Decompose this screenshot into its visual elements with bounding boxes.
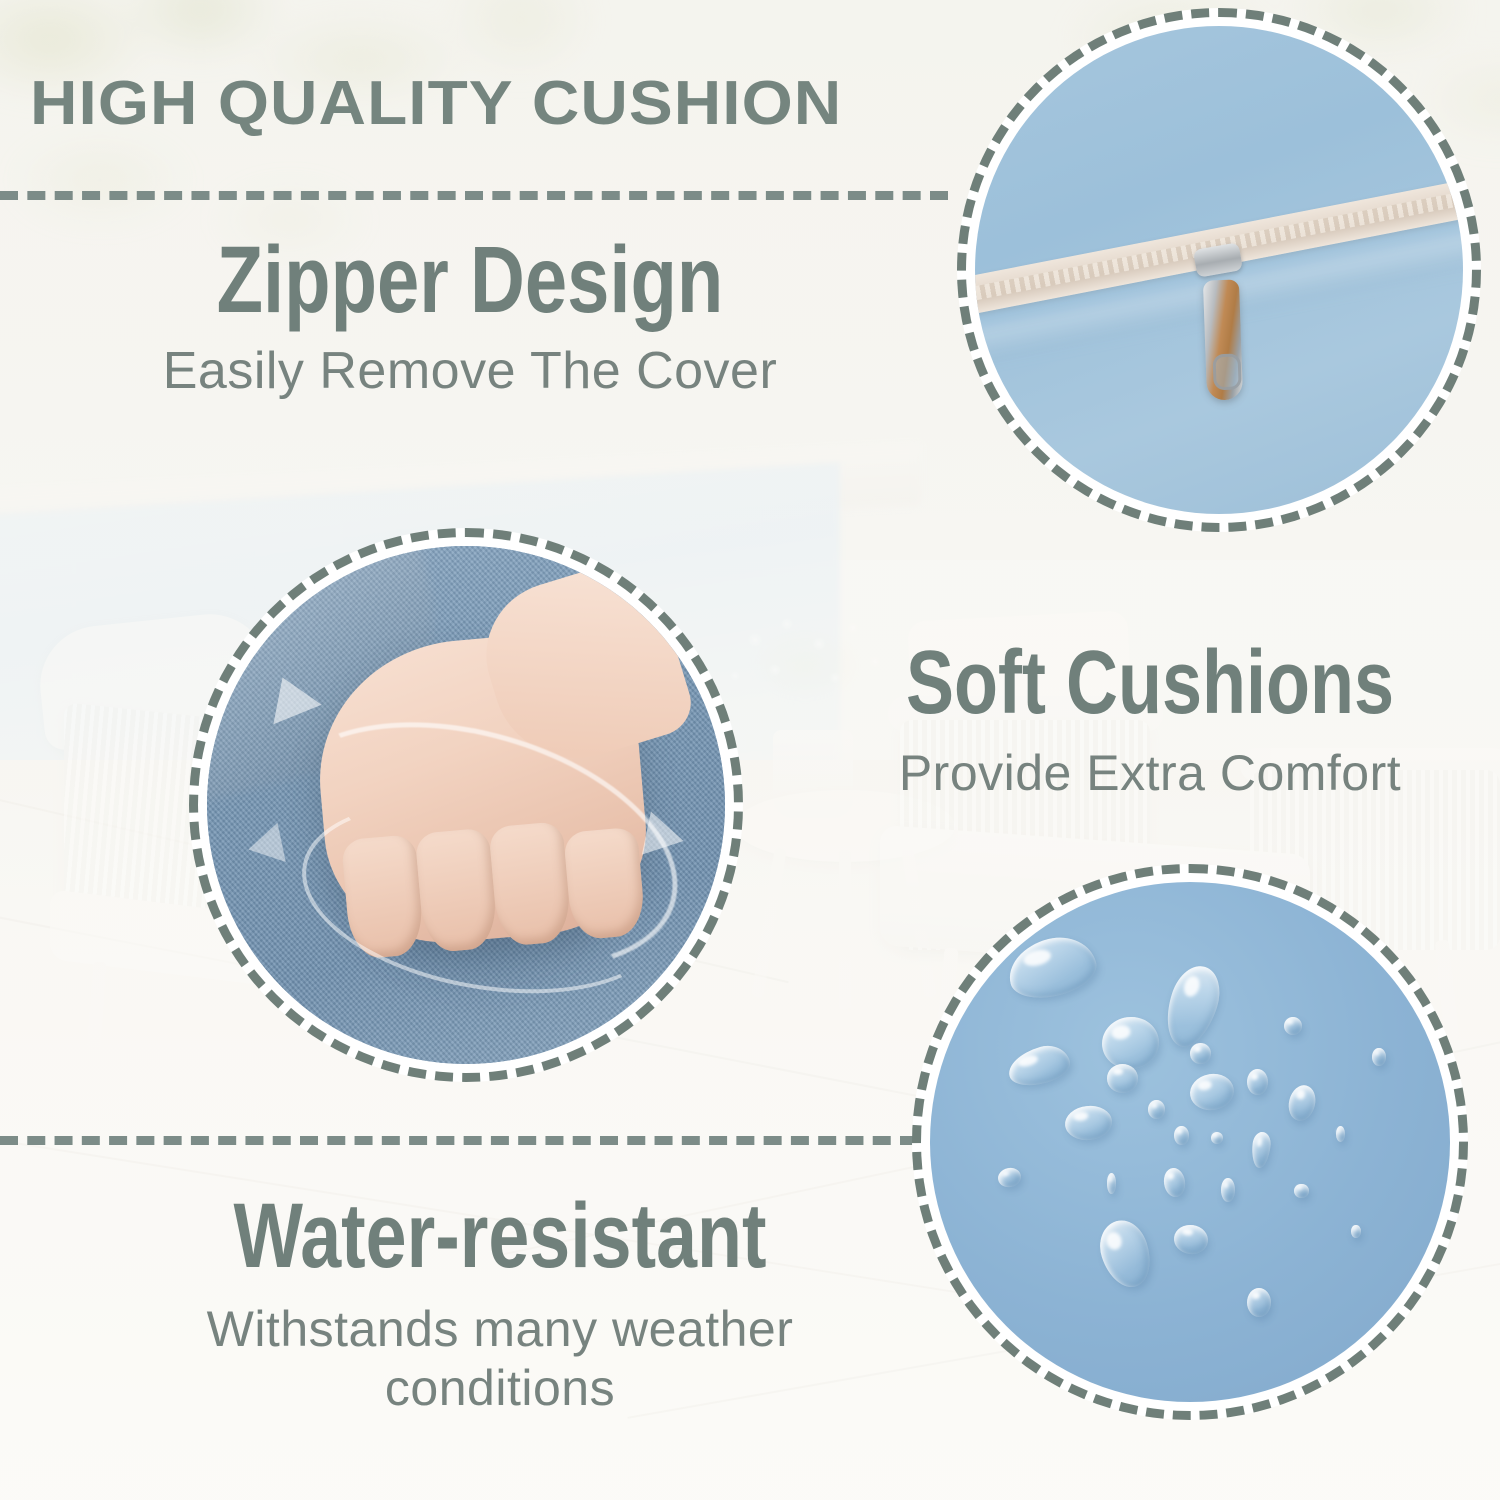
water-droplet (1002, 929, 1102, 1006)
water-droplet (1157, 960, 1227, 1054)
feature-subtitle-line-1: Withstands many weather (100, 1300, 900, 1359)
infographic-canvas: HIGH QUALITY CUSHION Zipper Design Easil… (0, 0, 1500, 1500)
water-droplet (1173, 1223, 1210, 1256)
feature-block-zipper: Zipper Design Easily Remove The Cover (70, 232, 870, 402)
water-droplet (1107, 1064, 1138, 1093)
feature-block-soft-cushions: Soft Cushions Provide Extra Comfort (800, 638, 1500, 803)
water-droplet (1247, 1069, 1268, 1095)
feature-image-zipper (957, 8, 1481, 532)
zipper-photo (975, 26, 1463, 514)
page-title: HIGH QUALITY CUSHION (30, 68, 842, 139)
water-droplet (996, 1166, 1023, 1189)
water-droplet (1190, 1043, 1211, 1064)
water-droplets-photo (930, 882, 1450, 1402)
feature-title-zipper: Zipper Design (150, 232, 790, 329)
water-droplet (1187, 1071, 1237, 1115)
water-droplet (1247, 1288, 1271, 1317)
feature-image-water-resistant (912, 864, 1468, 1420)
water-droplet (1336, 1126, 1345, 1142)
water-droplet (1174, 1126, 1189, 1145)
water-droplet (1211, 1132, 1223, 1144)
fist-on-cushion-photo (207, 546, 725, 1064)
feature-block-water-resistant: Water-resistant Withstands many weather … (100, 1190, 900, 1418)
feature-image-soft-cushions (189, 528, 743, 1082)
water-droplet (1162, 1167, 1187, 1198)
feature-subtitle-soft-cushions: Provide Extra Comfort (800, 744, 1500, 803)
water-droplet (1004, 1040, 1074, 1092)
water-droplet (1294, 1184, 1309, 1199)
feature-title-soft-cushions: Soft Cushions (870, 638, 1430, 730)
water-droplet (1064, 1103, 1114, 1142)
water-droplet (1251, 1131, 1272, 1169)
water-droplet (1092, 1214, 1157, 1293)
feature-subtitle-zipper: Easily Remove The Cover (70, 341, 870, 402)
water-droplet (1372, 1048, 1386, 1066)
water-droplet (1148, 1100, 1165, 1119)
bottom-divider (0, 1136, 918, 1145)
water-droplet (1351, 1225, 1360, 1237)
top-divider (0, 191, 948, 200)
water-droplet (1285, 1082, 1319, 1124)
feature-subtitle-line-2: conditions (100, 1359, 900, 1418)
zipper-pull-icon (1203, 279, 1243, 400)
water-droplet (1107, 1173, 1116, 1194)
feature-subtitle-water-resistant: Withstands many weather conditions (100, 1300, 900, 1418)
feature-title-water-resistant: Water-resistant (180, 1190, 820, 1284)
water-droplet (1221, 1178, 1235, 1202)
water-droplet (1098, 1013, 1162, 1072)
water-droplet (1284, 1017, 1302, 1035)
